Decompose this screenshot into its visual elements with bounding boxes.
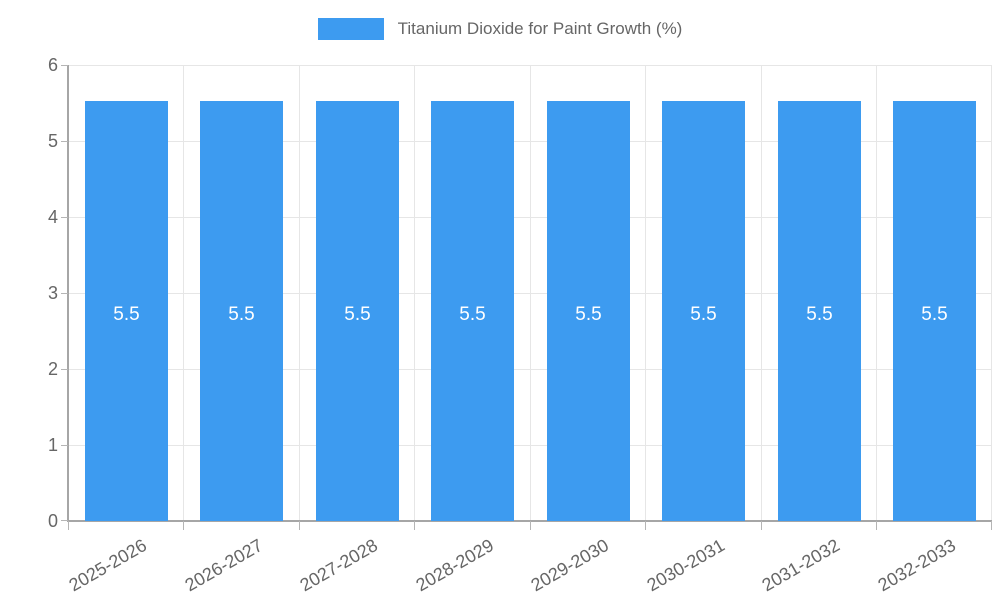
bar-2030-2031[interactable] [662,101,745,521]
y-tickmark-5 [61,141,68,142]
gridline-x-7 [876,65,877,521]
bar-2027-2028[interactable] [316,101,399,521]
gridline-x-2 [299,65,300,521]
bar-2025-2026[interactable] [85,101,168,521]
y-tickmark-0 [61,520,68,521]
x-tickmark-5 [645,521,646,530]
bar-chart: Titanium Dioxide for Paint Growth (%) 6 … [0,0,1000,600]
y-tick-label-2: 2 [6,360,58,378]
x-tick-label-2032-2033: 2032-2033 [874,535,959,595]
legend-color-swatch[interactable] [318,18,384,40]
y-tick-label-4: 4 [6,208,58,226]
legend-label[interactable]: Titanium Dioxide for Paint Growth (%) [398,18,683,40]
bar-2031-2032[interactable] [778,101,861,521]
bar-2029-2030[interactable] [547,101,630,521]
x-tickmark-2 [299,521,300,530]
x-tick-label-2027-2028: 2027-2028 [296,535,381,595]
gridline-x-3 [414,65,415,521]
x-tickmark-6 [761,521,762,530]
bar-2028-2029[interactable] [431,101,514,521]
x-tick-label-2028-2029: 2028-2029 [412,535,497,595]
chart-legend[interactable]: Titanium Dioxide for Paint Growth (%) [0,14,1000,44]
y-axis-tick-labels: 6 5 4 3 2 1 0 [0,0,58,600]
x-tickmark-7 [876,521,877,530]
x-tick-label-2030-2031: 2030-2031 [643,535,728,595]
y-tickmark-6 [61,65,68,66]
bar-2026-2027[interactable] [200,101,283,521]
x-tickmark-4 [530,521,531,530]
y-tick-label-1: 1 [6,436,58,454]
y-tickmark-4 [61,217,68,218]
y-tick-label-5: 5 [6,132,58,150]
gridline-x-8 [991,65,992,521]
x-tick-label-2026-2027: 2026-2027 [181,535,266,595]
gridline-x-4 [530,65,531,521]
y-tickmark-2 [61,369,68,370]
bar-2032-2033[interactable] [893,101,976,521]
x-tickmark-8 [991,521,992,530]
x-tick-label-2031-2032: 2031-2032 [758,535,843,595]
y-tick-label-6: 6 [6,56,58,74]
x-tick-label-2025-2026: 2025-2026 [65,535,150,595]
x-tickmark-3 [414,521,415,530]
x-tick-label-2029-2030: 2029-2030 [527,535,612,595]
x-tickmark-0 [68,521,69,530]
y-tick-label-0: 0 [6,512,58,530]
gridline-x-6 [761,65,762,521]
x-tickmark-1 [183,521,184,530]
y-tickmark-3 [61,293,68,294]
y-tickmark-1 [61,445,68,446]
gridline-x-5 [645,65,646,521]
y-tick-label-3: 3 [6,284,58,302]
gridline-x-1 [183,65,184,521]
